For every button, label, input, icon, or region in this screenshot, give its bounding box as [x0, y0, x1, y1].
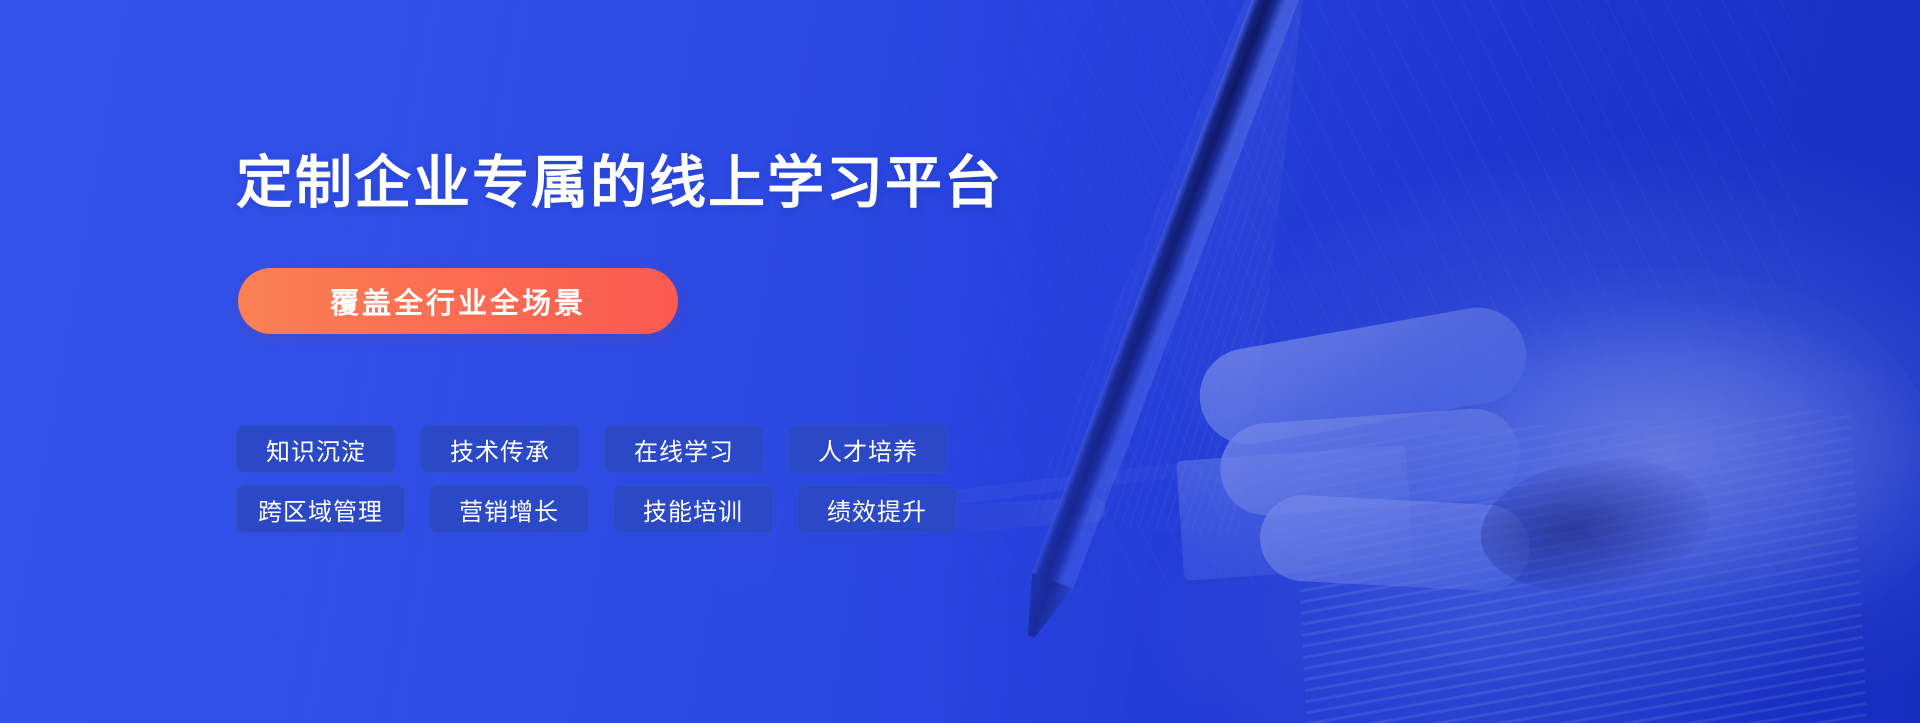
tag-row: 跨区域管理 营销增长 技能培训 绩效提升 [236, 485, 957, 533]
banner-headline: 定制企业专属的线上学习平台 [236, 155, 1003, 212]
tag-row: 知识沉淀 技术传承 在线学习 人才培养 [236, 425, 957, 473]
tag-item[interactable]: 人才培养 [788, 425, 948, 473]
coverage-badge[interactable]: 覆盖全行业全场景 [238, 268, 678, 334]
tag-item[interactable]: 跨区域管理 [236, 485, 405, 533]
tag-item[interactable]: 绩效提升 [797, 485, 957, 533]
tag-item[interactable]: 在线学习 [604, 425, 764, 473]
tag-item[interactable]: 营销增长 [429, 485, 589, 533]
banner-content: 定制企业专属的线上学习平台 覆盖全行业全场景 知识沉淀 技术传承 在线学习 人才… [236, 0, 1116, 723]
tag-item[interactable]: 技术传承 [420, 425, 580, 473]
tag-list: 知识沉淀 技术传承 在线学习 人才培养 跨区域管理 营销增长 技能培训 绩效提升 [236, 425, 957, 533]
tag-item[interactable]: 技能培训 [613, 485, 773, 533]
hero-banner: 定制企业专属的线上学习平台 覆盖全行业全场景 知识沉淀 技术传承 在线学习 人才… [0, 0, 1920, 723]
tag-item[interactable]: 知识沉淀 [236, 425, 396, 473]
